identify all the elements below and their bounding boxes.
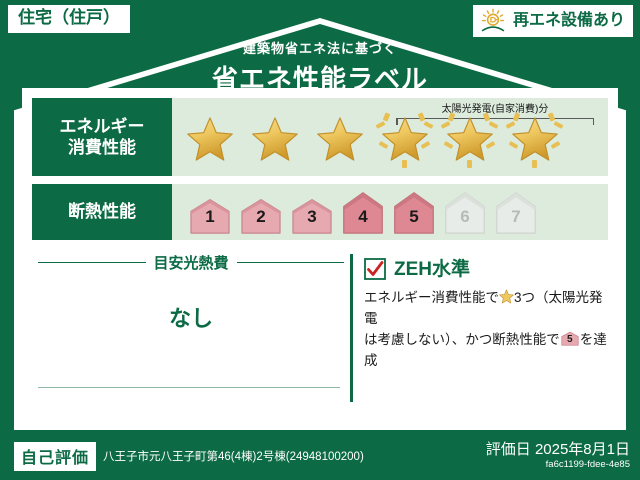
star-item <box>243 107 306 167</box>
title-main: 省エネ性能ラベル <box>0 59 640 96</box>
label-title-block: 建築物省エネ法に基づく 省エネ性能ラベル <box>0 38 640 96</box>
energy-performance-value: 太陽光発電(自家消費)分 <box>172 98 608 176</box>
insulation-level-item: 1 <box>186 196 234 234</box>
insulation-level-item: 4 <box>339 190 387 234</box>
star-list <box>178 107 566 167</box>
label-card-body: エネルギー 消費性能 太陽光発電(自家消費)分 <box>22 88 618 424</box>
insulation-level-number: 5 <box>390 207 438 227</box>
zeh-desc-part1: エネルギー消費性能で <box>364 290 499 305</box>
insulation-level-number: 2 <box>237 207 285 227</box>
checkbox-checked-icon <box>364 258 386 280</box>
inline-house-number: 5 <box>560 331 580 346</box>
insulation-level-item: 6 <box>441 190 489 234</box>
energy-label-line2: 消費性能 <box>68 137 136 158</box>
zeh-title: ZEH水準 <box>394 260 470 279</box>
insulation-level-number: 1 <box>186 207 234 227</box>
insulation-level-number: 6 <box>441 207 489 227</box>
insulation-performance-label: 断熱性能 <box>32 184 172 240</box>
utility-cost-heading: 目安光熱費 <box>32 252 350 273</box>
insulation-level-number: 3 <box>288 207 336 227</box>
star-icon <box>251 116 299 162</box>
star-icon <box>446 116 494 162</box>
star-icon <box>186 116 234 162</box>
utility-cost-divider <box>38 387 340 389</box>
star-rating: 太陽光発電(自家消費)分 <box>172 98 608 176</box>
insulation-level-item: 5 <box>390 190 438 234</box>
star-icon <box>511 116 559 162</box>
house-type-badge: 住宅（住戸） <box>8 5 130 33</box>
insulation-performance-row: 断熱性能 1 2 <box>32 184 608 240</box>
performance-rows: エネルギー 消費性能 太陽光発電(自家消費)分 <box>22 88 618 240</box>
star-item-solar <box>503 107 566 167</box>
utility-cost-section: 目安光熱費 なし <box>32 248 350 430</box>
zeh-description: エネルギー消費性能で3つ（太陽光発電は考慮しない）、かつ断熱性能で5を達成 <box>364 288 608 372</box>
bracket-right-tick <box>593 118 595 125</box>
star-item <box>178 107 241 167</box>
insulation-level-item: 2 <box>237 196 285 234</box>
renewable-badge-label: 再エネ設備あり <box>513 12 625 30</box>
insulation-level-number: 4 <box>339 207 387 227</box>
section-vertical-divider <box>350 254 353 402</box>
zeh-heading: ZEH水準 <box>364 258 608 280</box>
heading-rule-right <box>237 262 345 264</box>
evaluation-date: 評価日 2025年8月1日 <box>486 441 630 460</box>
inline-house-badge: 5 <box>560 331 580 346</box>
property-address: 八王子市元八王子町第46(4棟)2号棟(24948100200) <box>103 448 364 464</box>
inline-star-icon <box>499 289 514 304</box>
heading-rule-left <box>38 262 146 264</box>
evaluation-id: fa6c1199-fdee-4e85 <box>486 459 630 471</box>
evaluation-date-label: 評価日 <box>486 441 531 458</box>
footer-right: 評価日 2025年8月1日 fa6c1199-fdee-4e85 <box>486 441 630 472</box>
energy-performance-row: エネルギー 消費性能 太陽光発電(自家消費)分 <box>32 98 608 176</box>
renewable-equipment-badge: 再エネ設備あり <box>473 5 633 37</box>
star-item <box>308 107 371 167</box>
bottom-section: 目安光熱費 なし ZEH水準 エネルギー消費性能で3つ（太陽光発電は考慮しない）… <box>22 244 618 430</box>
utility-cost-title: 目安光熱費 <box>154 252 229 273</box>
footer-left: 自己評価 八王子市元八王子町第46(4棟)2号棟(24948100200) <box>14 442 364 471</box>
zeh-section: ZEH水準 エネルギー消費性能で3つ（太陽光発電は考慮しない）、かつ断熱性能で5… <box>350 248 608 430</box>
insulation-level-list: 1 2 3 <box>186 190 540 234</box>
insulation-level-item: 7 <box>492 190 540 234</box>
evaluation-date-value: 2025年8月1日 <box>535 441 630 458</box>
star-icon <box>381 116 429 162</box>
insulation-level-number: 7 <box>492 207 540 227</box>
zeh-desc-part2: は考慮しない）、かつ断熱性能で <box>364 332 560 347</box>
self-evaluation-badge: 自己評価 <box>14 442 96 471</box>
star-icon <box>316 116 364 162</box>
footer-bar: 自己評価 八王子市元八王子町第46(4棟)2号棟(24948100200) 評価… <box>0 432 640 480</box>
insulation-performance-value: 1 2 3 <box>172 184 608 240</box>
insulation-level-item: 3 <box>288 196 336 234</box>
solar-sun-icon <box>478 8 508 34</box>
energy-label-line1: エネルギー <box>60 116 145 137</box>
title-subtitle: 建築物省エネ法に基づく <box>0 38 640 57</box>
utility-cost-value: なし <box>32 301 350 333</box>
star-item-solar <box>373 107 436 167</box>
energy-performance-label: エネルギー 消費性能 <box>32 98 172 176</box>
star-item-solar <box>438 107 501 167</box>
